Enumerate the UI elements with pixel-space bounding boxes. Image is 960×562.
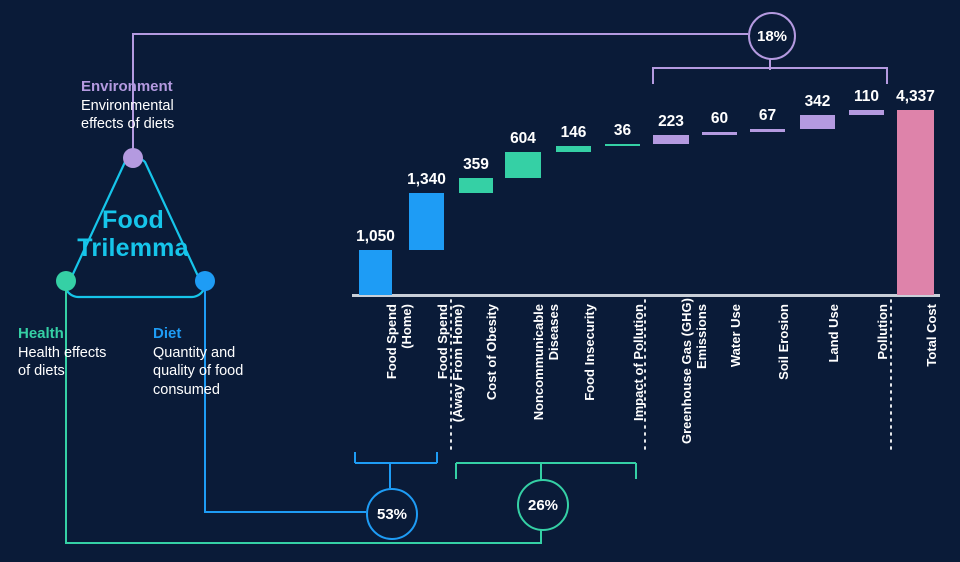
bar-7[interactable] [653,135,689,145]
bar-5[interactable] [556,146,591,152]
badge-environment-share[interactable]: 18% [748,12,796,60]
bar-6[interactable] [605,144,640,146]
bar-value-2: 1,340 [393,171,460,189]
category-label-12: Total Cost [924,304,939,444]
diet-heading: Diet [153,325,273,344]
health-heading: Health [18,325,148,344]
bar-1[interactable] [359,250,392,295]
environment-heading: Environment [81,78,241,97]
bar-12[interactable] [897,110,934,295]
bar-value-3: 359 [443,156,509,174]
category-label-3: Cost of Obesity [484,304,499,444]
category-label-1: Food Spend (Home) [384,304,415,444]
bar-8[interactable] [702,132,737,135]
category-label-11: Pollution [875,304,890,444]
category-label-10: Land Use [826,304,841,444]
bar-2[interactable] [409,193,444,250]
category-label-6: Impact of Pollution [631,304,646,444]
diet-node-dot [195,271,215,291]
environment-description: Environmental effects of diets [81,97,241,134]
chart-baseline [352,294,940,297]
bar-11[interactable] [849,110,884,115]
diet-node[interactable]: Diet Quantity and quality of food consum… [153,325,273,399]
category-label-5: Food Insecurity [582,304,597,444]
badge-health-share[interactable]: 26% [517,479,569,531]
badge-diet-share[interactable]: 53% [366,488,418,540]
environment-node-dot [123,148,143,168]
trilemma-title: Food Trilemma [64,206,202,262]
category-label-2: Food Spend (Away From Home) [435,304,466,444]
infographic-canvas: Food Trilemma Environment Environmental … [0,0,960,562]
health-description: Health effects of diets [18,344,148,381]
trilemma-title-line2: Trilemma [64,234,202,262]
bar-3[interactable] [459,178,493,193]
bar-4[interactable] [505,152,541,178]
bar-9[interactable] [750,129,785,132]
trilemma-title-line1: Food [64,206,202,234]
environment-node[interactable]: Environment Environmental effects of die… [81,78,241,134]
bar-value-1: 1,050 [343,228,408,246]
diet-description: Quantity and quality of food consumed [153,344,273,400]
category-label-9: Soil Erosion [776,304,791,444]
health-node-dot [56,271,76,291]
bar-value-12: 4,337 [881,88,950,106]
category-label-7: Greenhouse Gas (GHG) Emissions [679,304,710,444]
category-label-8: Water Use [728,304,743,444]
category-label-4: Noncommunicable Diseases [531,304,562,444]
health-node[interactable]: Health Health effects of diets [18,325,148,381]
bar-10[interactable] [800,115,835,130]
